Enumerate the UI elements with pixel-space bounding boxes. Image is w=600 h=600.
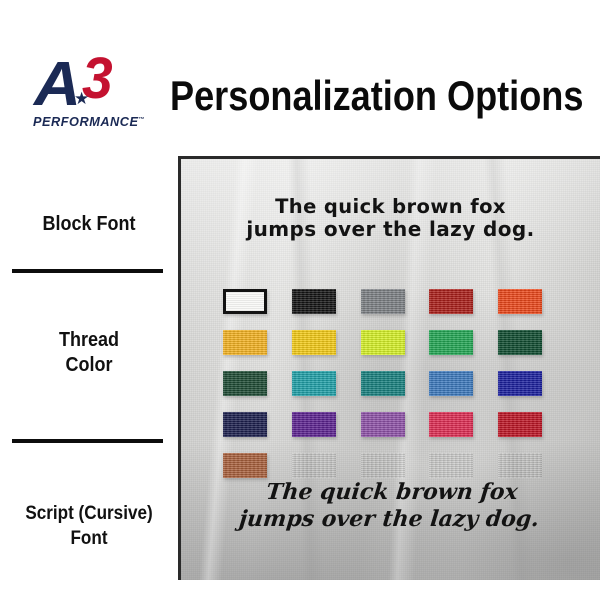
page-title: Personalization Options [170, 72, 583, 120]
thread-swatch-forest-green[interactable] [223, 371, 267, 396]
a3-logo-mark: A 3 ★ [30, 57, 148, 113]
thread-swatch-dark-red[interactable] [429, 289, 473, 314]
label-thread-color-line1: Thread [9, 328, 169, 353]
swatch-placeholder [361, 453, 405, 478]
thread-swatch-green[interactable] [429, 330, 473, 355]
swatch-cell [498, 363, 567, 404]
trademark-icon: ™ [138, 117, 145, 123]
thread-swatch-royal-blue[interactable] [498, 371, 542, 396]
swatch-cell [223, 322, 292, 363]
thread-swatch-teal[interactable] [361, 371, 405, 396]
thread-swatch-black[interactable] [292, 289, 336, 314]
block-sample-line1: The quick brown fox [197, 195, 584, 218]
swatch-placeholder [498, 453, 542, 478]
block-font-sample-text: The quick brown fox jumps over the lazy … [181, 195, 600, 241]
script-sample-line1: The quick brown fox [193, 479, 591, 506]
category-label-column: Block Font Thread Color Script (Cursive)… [0, 156, 178, 580]
swatch-cell [292, 322, 361, 363]
thread-swatch-copper-metallic[interactable] [223, 453, 267, 478]
label-script-font-line1: Script (Cursive) [9, 501, 169, 526]
thread-swatch-pink-red[interactable] [429, 412, 473, 437]
swatch-cell [498, 404, 567, 445]
label-thread-color: Thread Color [9, 328, 169, 378]
logo-wordmark: PERFORMANCE™ [33, 115, 145, 129]
embroidery-sample-photo: The quick brown fox jumps over the lazy … [178, 156, 600, 580]
swatch-cell [223, 404, 292, 445]
thread-swatch-gray[interactable] [361, 289, 405, 314]
thread-swatch-medium-blue[interactable] [429, 371, 473, 396]
divider-2 [12, 439, 163, 443]
swatch-placeholder [429, 453, 473, 478]
swatch-cell [361, 363, 430, 404]
a3-performance-logo: A 3 ★ PERFORMANCE™ [30, 57, 148, 135]
swatch-row [223, 322, 567, 363]
swatch-cell [292, 281, 361, 322]
label-block-font-line1: Block Font [9, 212, 169, 236]
thread-swatch-navy[interactable] [223, 412, 267, 437]
star-icon: ★ [74, 91, 90, 107]
swatch-cell [498, 281, 567, 322]
swatch-cell [429, 363, 498, 404]
swatch-cell [429, 322, 498, 363]
thread-swatch-light-teal[interactable] [292, 371, 336, 396]
swatch-cell [498, 322, 567, 363]
thread-swatch-crimson[interactable] [498, 412, 542, 437]
label-thread-color-line2: Color [9, 353, 169, 378]
thread-color-swatch-grid [223, 281, 567, 486]
thread-swatch-yellow[interactable] [292, 330, 336, 355]
script-sample-line2: jumps over the lazy dog. [190, 506, 588, 533]
logo-wordmark-text: PERFORMANCE [33, 115, 138, 129]
script-font-sample-text: The quick brown fox jumps over the lazy … [178, 479, 600, 533]
swatch-row [223, 404, 567, 445]
swatch-placeholder [292, 453, 336, 478]
thread-swatch-dark-green[interactable] [498, 330, 542, 355]
label-script-font: Script (Cursive) Font [9, 501, 169, 551]
thread-swatch-orchid[interactable] [361, 412, 405, 437]
swatch-cell [223, 363, 292, 404]
label-block-font: Block Font [9, 212, 169, 236]
thread-swatch-white[interactable] [223, 289, 267, 314]
swatch-cell [292, 363, 361, 404]
thread-swatch-orange-red[interactable] [498, 289, 542, 314]
swatch-cell [429, 404, 498, 445]
swatch-row [223, 281, 567, 322]
logo-letter-a: A [34, 57, 77, 113]
swatch-cell [429, 281, 498, 322]
block-sample-line2: jumps over the lazy dog. [197, 218, 584, 241]
swatch-cell [292, 404, 361, 445]
thread-swatch-purple[interactable] [292, 412, 336, 437]
personalization-options-graphic: A 3 ★ PERFORMANCE™ Personalization Optio… [0, 0, 600, 600]
swatch-cell [361, 322, 430, 363]
swatch-cell [223, 281, 292, 322]
swatch-cell [361, 404, 430, 445]
divider-1 [12, 269, 163, 273]
thread-swatch-gold-orange[interactable] [223, 330, 267, 355]
label-script-font-line2: Font [9, 526, 169, 551]
swatch-cell [361, 281, 430, 322]
thread-swatch-lime-yellow[interactable] [361, 330, 405, 355]
header: A 3 ★ PERFORMANCE™ Personalization Optio… [0, 48, 600, 144]
swatch-row [223, 363, 567, 404]
